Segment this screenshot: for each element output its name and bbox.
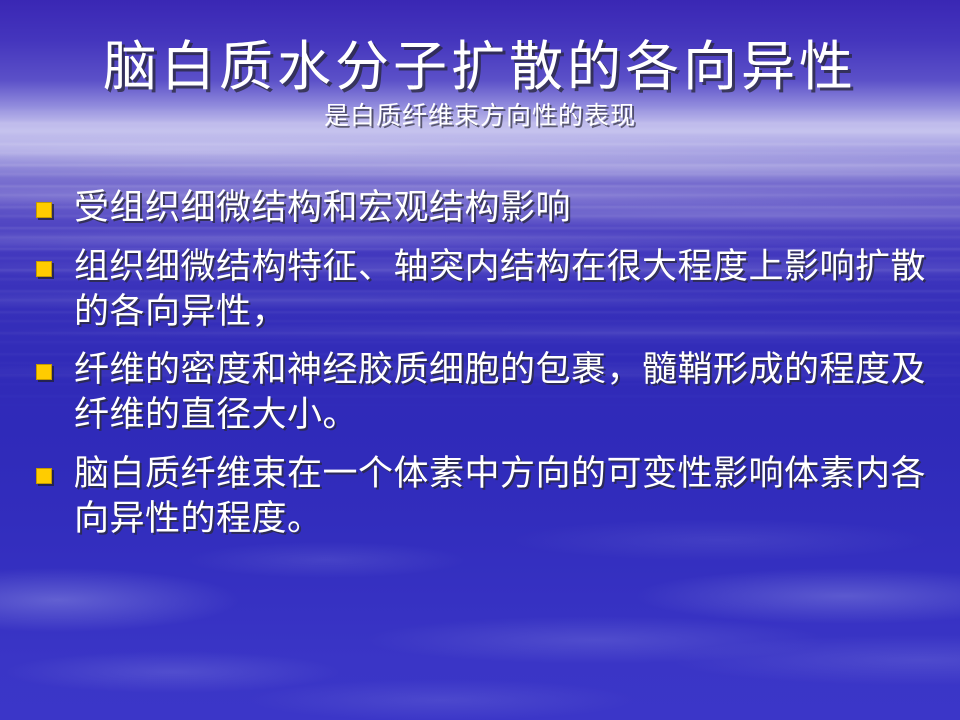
square-bullet-icon	[36, 468, 52, 484]
bullet-item-text: 脑白质纤维束在一个体素中方向的可变性影响体素内各向异性的程度。	[74, 452, 932, 542]
presentation-slide: 脑白质水分子扩散的各向异性 是白质纤维束方向性的表现 受组织细微结构和宏观结构影…	[0, 0, 960, 720]
bullet-item: 受组织细微结构和宏观结构影响	[36, 186, 932, 231]
bullet-item: 组织细微结构特征、轴突内结构在很大程度上影响扩散的各向异性，	[36, 245, 932, 335]
bullet-list: 受组织细微结构和宏观结构影响 组织细微结构特征、轴突内结构在很大程度上影响扩散的…	[36, 186, 932, 556]
bullet-item-text: 纤维的密度和神经胶质细胞的包裹，髓鞘形成的程度及纤维的直径大小。	[74, 348, 932, 438]
bullet-item-text: 组织细微结构特征、轴突内结构在很大程度上影响扩散的各向异性，	[74, 245, 932, 335]
square-bullet-icon	[36, 364, 52, 380]
square-bullet-icon	[36, 202, 52, 218]
bullet-item: 脑白质纤维束在一个体素中方向的可变性影响体素内各向异性的程度。	[36, 452, 932, 542]
title-block: 脑白质水分子扩散的各向异性 是白质纤维束方向性的表现	[0, 38, 960, 131]
square-bullet-icon	[36, 261, 52, 277]
slide-subtitle: 是白质纤维束方向性的表现	[0, 102, 960, 131]
slide-title: 脑白质水分子扩散的各向异性	[0, 38, 960, 96]
bullet-item-text: 受组织细微结构和宏观结构影响	[74, 186, 932, 231]
bullet-item: 纤维的密度和神经胶质细胞的包裹，髓鞘形成的程度及纤维的直径大小。	[36, 348, 932, 438]
slide-content: 脑白质水分子扩散的各向异性 是白质纤维束方向性的表现 受组织细微结构和宏观结构影…	[0, 0, 960, 720]
